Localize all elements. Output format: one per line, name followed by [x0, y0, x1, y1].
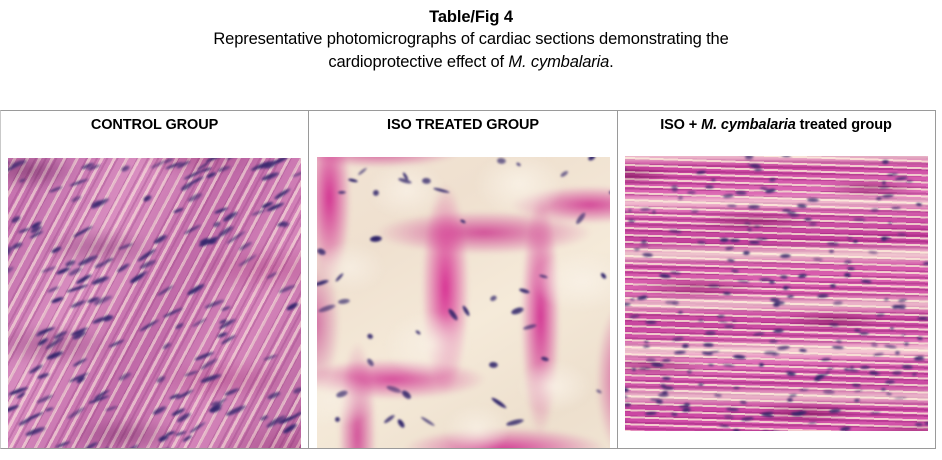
micrograph-iso [317, 157, 610, 448]
table-column-iso: ISO TREATED GROUP [309, 111, 618, 448]
column-header-iso-extract-pre: ISO + [660, 117, 701, 133]
column-header-control: CONTROL GROUP [1, 111, 308, 135]
column-header-iso-extract: ISO + M. cymbalaria treated group [618, 111, 934, 135]
table-column-control: CONTROL GROUP [1, 111, 309, 448]
column-header-iso-extract-species: M. cymbalaria [701, 117, 796, 133]
table-column-iso-extract: ISO + M. cymbalaria treated group [618, 111, 934, 448]
column-header-control-label: CONTROL GROUP [91, 117, 218, 133]
micrograph-control-nuclei [8, 158, 301, 448]
figure-subtitle: Representative photomicrographs of cardi… [0, 28, 942, 74]
micrograph-iso-extract-nuclei [625, 156, 928, 431]
figure-page: Table/Fig 4 Representative photomicrogra… [0, 0, 942, 460]
micrograph-iso-nuclei [317, 157, 610, 448]
column-header-iso-label: ISO TREATED GROUP [387, 117, 539, 133]
figure-subtitle-species: M. cymbalaria [508, 53, 609, 71]
figure-table: CONTROL GROUP ISO TREATED GROUP I [0, 110, 936, 449]
figure-subtitle-line1: Representative photomicrographs of cardi… [213, 30, 728, 48]
figure-caption: Table/Fig 4 Representative photomicrogra… [0, 0, 942, 74]
column-header-iso: ISO TREATED GROUP [309, 111, 617, 135]
figure-subtitle-line2-post: . [609, 53, 613, 71]
micrograph-control [8, 158, 301, 448]
micrograph-iso-extract [625, 156, 928, 431]
figure-title: Table/Fig 4 [0, 7, 942, 28]
column-header-iso-extract-post: treated group [796, 117, 892, 133]
figure-subtitle-line2-pre: cardioprotective effect of [328, 53, 508, 71]
